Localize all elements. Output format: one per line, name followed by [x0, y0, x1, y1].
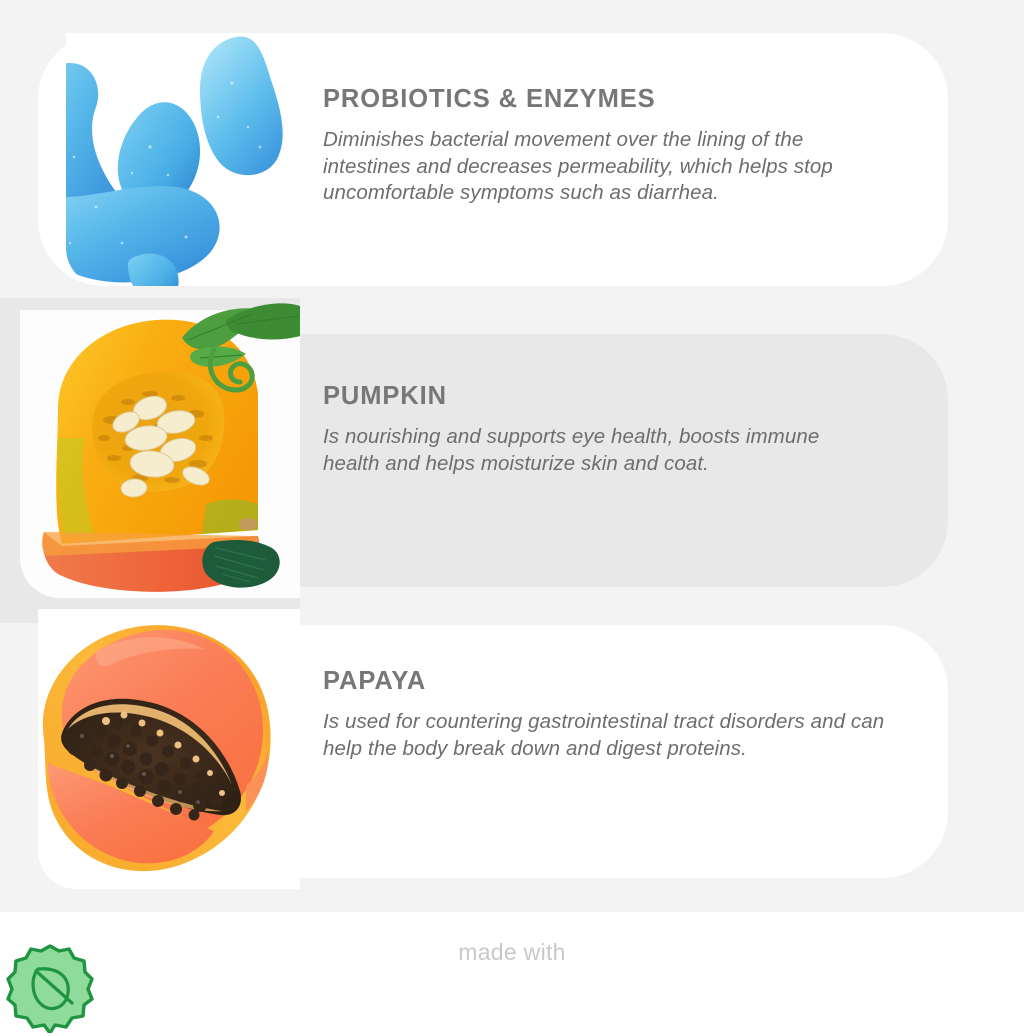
ingredient-description: Is used for countering gastrointestinal … — [323, 709, 900, 762]
ingredient-card-papaya: PAPAYA Is used for countering gastrointe… — [38, 625, 948, 878]
made-with-label: made with — [0, 939, 1024, 966]
ingredient-title: PAPAYA — [323, 667, 900, 696]
natural-leaf-badge-icon — [4, 941, 96, 1033]
ingredient-description: Diminishes bacterial movement over the l… — [323, 127, 895, 207]
card-text-block: PAPAYA Is used for countering gastrointe… — [323, 667, 900, 762]
ingredient-cards-list: PROBIOTICS & ENZYMES Diminishes bacteria… — [0, 0, 1024, 912]
ingredient-card-pumpkin: PUMPKIN Is nourishing and supports eye h… — [38, 334, 948, 587]
ingredient-card-probiotics: PROBIOTICS & ENZYMES Diminishes bacteria… — [38, 33, 948, 286]
card-text-block: PROBIOTICS & ENZYMES Diminishes bacteria… — [323, 85, 900, 207]
ingredient-description: Is nourishing and supports eye health, b… — [323, 424, 879, 477]
pumpkin-image — [0, 298, 300, 623]
card-text-block: PUMPKIN Is nourishing and supports eye h… — [323, 382, 900, 477]
ingredient-title: PROBIOTICS & ENZYMES — [323, 85, 900, 114]
probiotics-bacteria-image — [0, 0, 300, 322]
natural-ingredients-banner: made with NATURAL INGREDIENTS — [0, 912, 1024, 1036]
papaya-image — [0, 589, 300, 914]
ingredient-title: PUMPKIN — [323, 382, 900, 411]
